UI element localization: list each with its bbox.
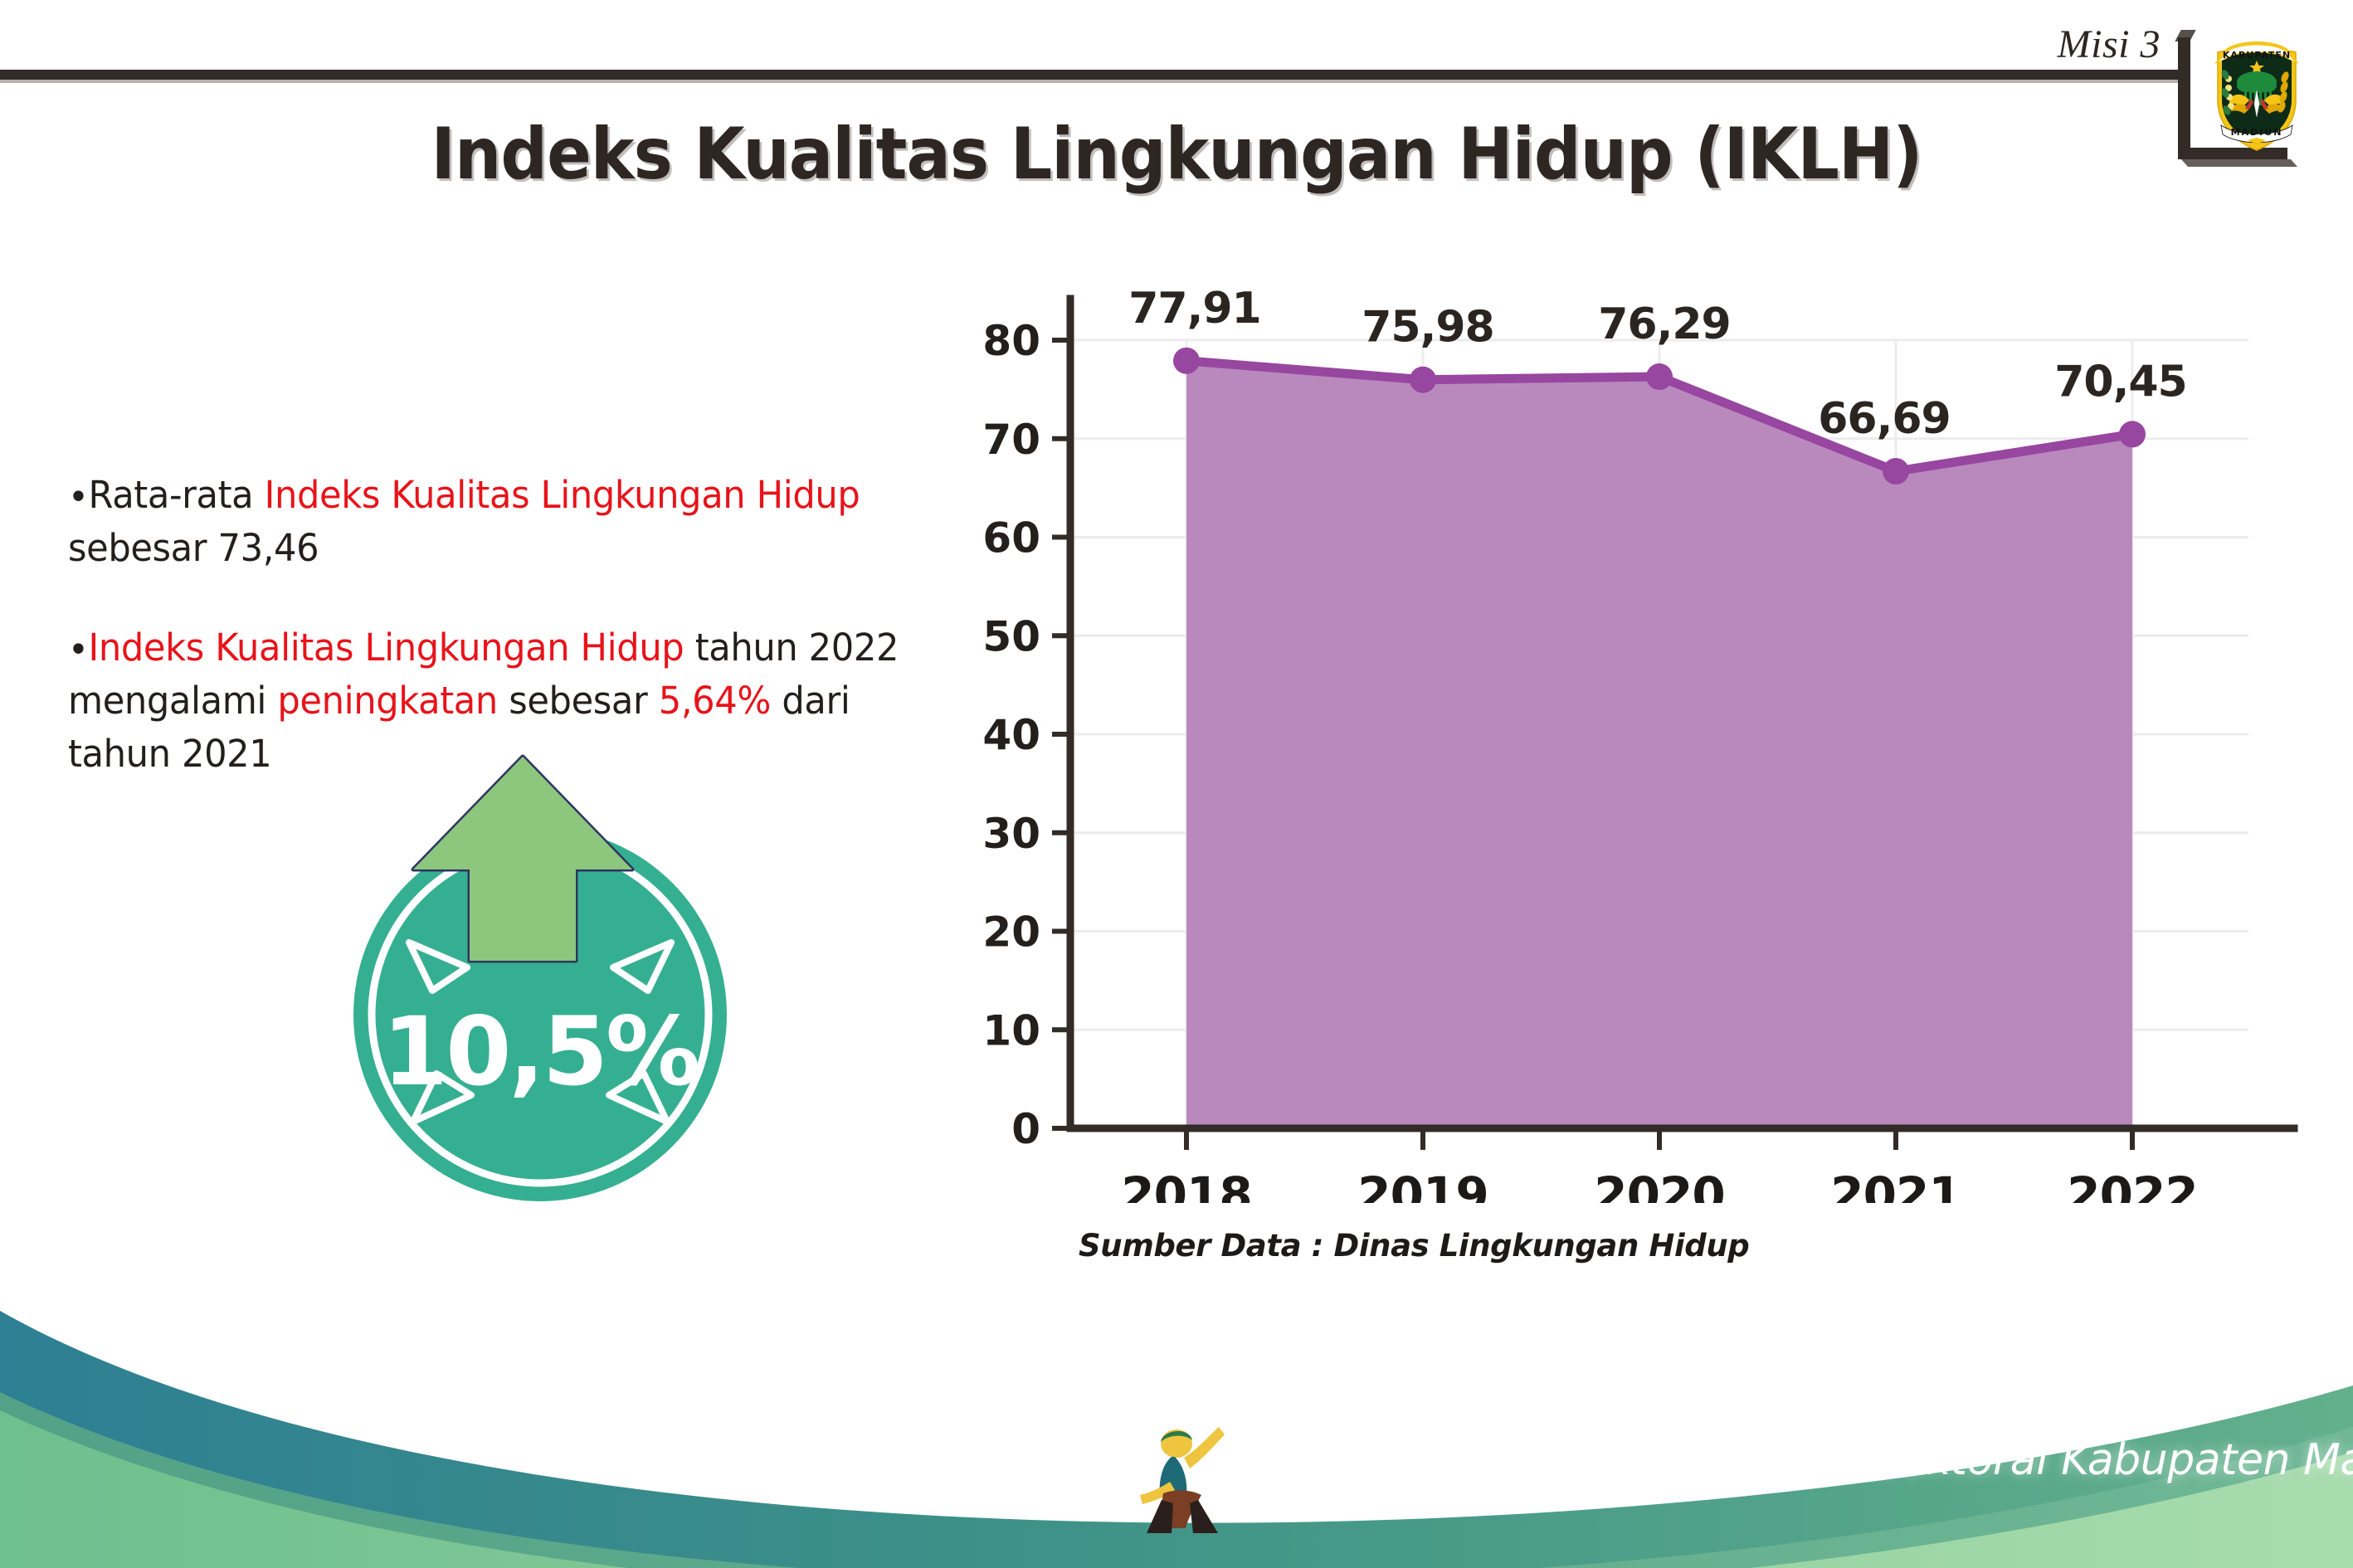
up-arrow-icon xyxy=(410,753,636,969)
infographic-slide: Misi 3 KABUPATEN xyxy=(0,0,2353,1568)
chart-y-tick-label: 40 xyxy=(982,711,1040,759)
chart-marker xyxy=(1883,458,1909,485)
chart-svg: 01020304050607080 20182019202020212022 7… xyxy=(954,290,2298,1203)
chart-marker xyxy=(2119,421,2146,447)
statistik-figure-icon xyxy=(1138,1420,1230,1536)
chart-x-tick-label: 2020 xyxy=(1594,1166,1724,1203)
header-rule-shadow xyxy=(0,80,2185,83)
bullet-1-highlight-2: peningkatan xyxy=(277,679,497,723)
chart-x-tick-label: 2022 xyxy=(2067,1166,2197,1203)
bullet-1-highlight-3: 5,64% xyxy=(659,679,771,723)
chart-area-fill xyxy=(1186,361,2132,1128)
bullet-1-part4: sebesar xyxy=(498,679,659,723)
bullet-1-highlight-1: Indeks Kualitas Lingkungan Hidup xyxy=(89,626,684,670)
chart-y-tick-labels: 01020304050607080 xyxy=(982,317,1040,1153)
chart-y-tick-label: 10 xyxy=(982,1006,1040,1054)
chart-data-label: 66,69 xyxy=(1818,394,1950,444)
chart-y-tick-label: 30 xyxy=(982,810,1040,858)
badge-value: 10,5% xyxy=(330,996,750,1107)
chart-x-tick-label: 2021 xyxy=(1830,1166,1961,1203)
bullet-0-part3: sebesar 73,46 xyxy=(68,526,319,570)
header-rule xyxy=(0,70,2185,80)
bullet-marker: • xyxy=(68,629,89,671)
chart-x-tick-label: 2018 xyxy=(1121,1166,1251,1203)
svg-text:KABUPATEN: KABUPATEN xyxy=(2223,50,2291,61)
chart-x-tick-label: 2019 xyxy=(1357,1166,1488,1203)
iklh-area-chart: 01020304050607080 20182019202020212022 7… xyxy=(954,290,2298,1203)
chart-source-note: Sumber Data : Dinas Lingkungan Hidup xyxy=(1079,1228,1749,1264)
chart-y-tick-label: 50 xyxy=(982,612,1040,660)
chart-data-label: 76,29 xyxy=(1598,299,1730,349)
page-title: Indeks Kualitas Lingkungan Hidup (IKLH) xyxy=(94,113,2258,196)
bullet-item-average: •Rata-rata Indeks Kualitas Lingkungan Hi… xyxy=(68,469,928,575)
chart-y-tick-label: 60 xyxy=(982,514,1040,562)
percentage-badge: 10,5% xyxy=(330,753,750,1201)
bullet-0-highlight: Indeks Kualitas Lingkungan Hidup xyxy=(265,473,860,517)
chart-y-tick-label: 0 xyxy=(1011,1105,1040,1153)
bullet-marker: • xyxy=(68,476,89,519)
chart-y-tick-label: 20 xyxy=(982,908,1040,957)
chart-marker xyxy=(1410,367,1436,393)
chart-data-label: 77,91 xyxy=(1128,290,1260,334)
misi-label: Misi 3 xyxy=(2058,22,2161,67)
chart-y-tick-label: 80 xyxy=(982,317,1040,365)
chart-data-label: 75,98 xyxy=(1362,303,1493,353)
chart-y-tick-label: 70 xyxy=(982,416,1040,464)
footer-caption: Media Infografis Data Statistik Sektoral… xyxy=(1220,1435,2353,1485)
chart-marker xyxy=(1173,348,1200,374)
chart-x-tick-labels: 20182019202020212022 xyxy=(1121,1166,2197,1203)
bullet-0-part1: Rata-rata xyxy=(89,473,265,517)
chart-marker xyxy=(1646,363,1673,390)
chart-data-label: 70,45 xyxy=(2054,357,2186,407)
